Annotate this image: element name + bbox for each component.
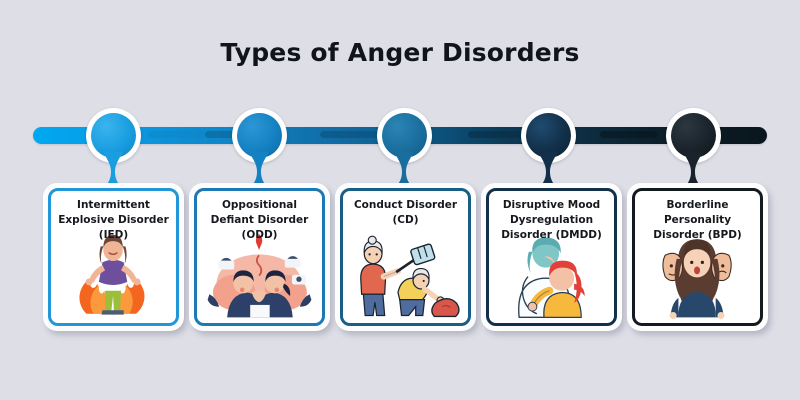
card-odd[interactable]: Oppositional Defiant Disorder (ODD)	[189, 183, 330, 331]
timeline-stem-2	[248, 152, 270, 187]
timeline-bar-chip	[468, 131, 528, 138]
timeline-stem-4	[537, 152, 559, 187]
card-bpd[interactable]: Borderline Personality Disorder (BPD)	[627, 183, 768, 331]
card-inner: Oppositional Defiant Disorder (ODD)	[194, 188, 325, 326]
timeline-stem-3	[393, 152, 415, 187]
timeline-stem-5	[682, 152, 704, 187]
timeline-bar-chip	[320, 131, 380, 138]
timeline-bar-chip	[600, 131, 658, 138]
card-dmdd[interactable]: Disruptive Mood Dysregulation Disorder (…	[481, 183, 622, 331]
card-inner: Conduct Disorder (CD)	[340, 188, 471, 326]
timeline-stem-1	[102, 152, 124, 187]
infographic-canvas: Types of Anger Disorders	[0, 0, 800, 400]
card-ied[interactable]: Intermittent Explosive Disorder (IED)	[43, 183, 184, 331]
card-inner: Borderline Personality Disorder (BPD)	[632, 188, 763, 326]
card-title-bpd: Borderline Personality Disorder (BPD)	[635, 191, 760, 243]
page-title: Types of Anger Disorders	[0, 38, 800, 67]
card-inner: Intermittent Explosive Disorder (IED)	[48, 188, 179, 326]
card-inner: Disruptive Mood Dysregulation Disorder (…	[486, 188, 617, 326]
adult-scolding-child-icon	[343, 223, 468, 323]
timeline-bar-chip	[148, 131, 206, 138]
card-title-ied: Intermittent Explosive Disorder (IED)	[51, 191, 176, 243]
card-title-cd: Conduct Disorder (CD)	[343, 191, 468, 228]
card-cd[interactable]: Conduct Disorder (CD)	[335, 183, 476, 331]
card-title-dmdd: Disruptive Mood Dysregulation Disorder (…	[489, 191, 614, 243]
card-title-odd: Oppositional Defiant Disorder (ODD)	[197, 191, 322, 243]
